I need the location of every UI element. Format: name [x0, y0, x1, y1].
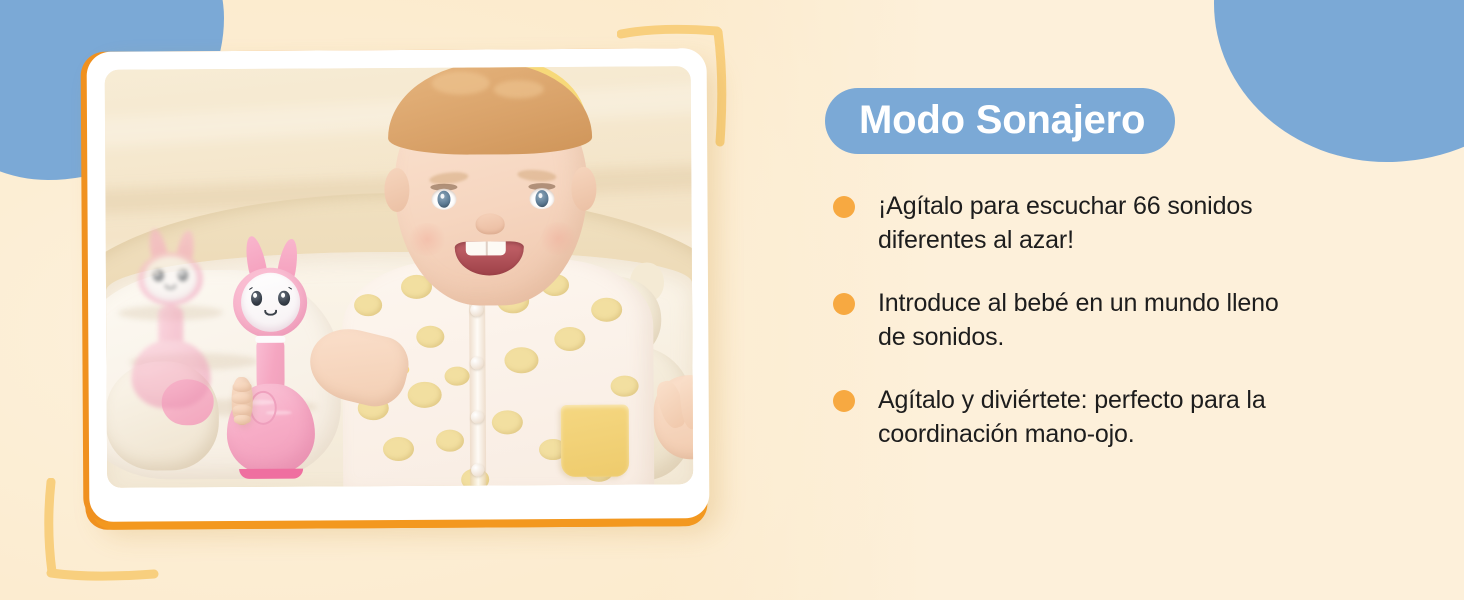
rattle-mouth: [165, 284, 177, 289]
outfit-dot: [504, 347, 538, 374]
rattle-head: [137, 252, 203, 306]
outfit-dot: [383, 437, 414, 461]
rattle-lash-right: [288, 287, 292, 290]
baby-figure: [316, 66, 694, 486]
rattle-face: [240, 273, 299, 332]
photo-scene: [105, 66, 694, 488]
page-title: Modo Sonajero: [859, 98, 1145, 142]
finger: [232, 382, 251, 393]
outfit-dot: [591, 298, 622, 322]
outfit-dot: [492, 410, 523, 434]
outfit-dot: [417, 325, 445, 347]
product-feature-banner: Modo Sonajero ¡Agítalo para escuchar 66 …: [0, 0, 1464, 600]
feature-bullet-list: ¡Agítalo para escuchar 66 sonidos difere…: [822, 190, 1292, 451]
bullet-dot-icon: [833, 293, 855, 315]
product-photo-card: [87, 48, 710, 522]
list-item: Introduce al bebé en un mundo lleno de s…: [822, 287, 1292, 354]
finger: [233, 405, 252, 415]
hair-highlight: [432, 71, 490, 94]
product-photo: [105, 66, 694, 488]
baby-cheek-left: [408, 223, 447, 255]
finger: [234, 415, 251, 424]
baby-teeth: [465, 241, 505, 255]
baby-hand-right: [654, 375, 693, 459]
outfit-dot: [610, 375, 638, 397]
baby-nose: [475, 214, 504, 235]
outfit-dot: [554, 327, 585, 351]
bullet-text: Introduce al bebé en un mundo lleno de s…: [878, 287, 1292, 354]
baby-brow-right: [517, 168, 556, 183]
list-item: Agítalo y diviértete: perfecto para la c…: [822, 384, 1292, 451]
baby-mouth: [454, 241, 524, 276]
rattle-base-rim: [240, 469, 303, 479]
rattle-mouth: [264, 310, 277, 317]
rattle-face: [144, 256, 197, 301]
bullet-text: Agítalo y diviértete: perfecto para la c…: [878, 384, 1292, 451]
baby-eye-left: [431, 189, 456, 210]
iris: [536, 190, 549, 207]
baby-ear-left: [385, 168, 410, 212]
finger: [232, 393, 252, 404]
rattle-toy: [217, 236, 324, 479]
outfit-dot: [408, 381, 442, 408]
outfit-pocket: [561, 404, 630, 477]
content-column: Modo Sonajero ¡Agítalo para escuchar 66 …: [822, 88, 1292, 451]
bullet-text: ¡Agítalo para escuchar 66 sonidos difere…: [878, 190, 1292, 257]
baby-eye-right: [529, 188, 554, 209]
bullet-dot-icon: [833, 390, 855, 412]
section-title-badge: Modo Sonajero: [825, 88, 1175, 154]
baby-ear-right: [572, 167, 597, 211]
rattle-base-bulb: [131, 340, 210, 409]
outfit-dot: [354, 294, 382, 316]
rattle-lash-left: [249, 287, 253, 290]
outfit-snap-button: [471, 410, 484, 423]
list-item: ¡Agítalo para escuchar 66 sonidos difere…: [822, 190, 1292, 257]
rattle-eye-right: [278, 291, 290, 306]
rattle-eye: [178, 270, 189, 282]
baby-head: [394, 75, 588, 306]
baby-cheek-right: [539, 222, 578, 254]
outfit-dot: [436, 430, 464, 452]
iris: [437, 190, 450, 207]
rattle-neck-ring: [256, 335, 286, 342]
bullet-dot-icon: [833, 196, 855, 218]
rattle-eye-left: [251, 291, 263, 306]
rattle-eye: [153, 270, 164, 282]
rattle-toy-background-blur: [123, 228, 218, 412]
baby-hand-gripping-toy: [232, 377, 253, 426]
outfit-dot: [445, 367, 470, 387]
outfit-snap-button: [471, 463, 484, 476]
rattle-head: [233, 267, 307, 338]
